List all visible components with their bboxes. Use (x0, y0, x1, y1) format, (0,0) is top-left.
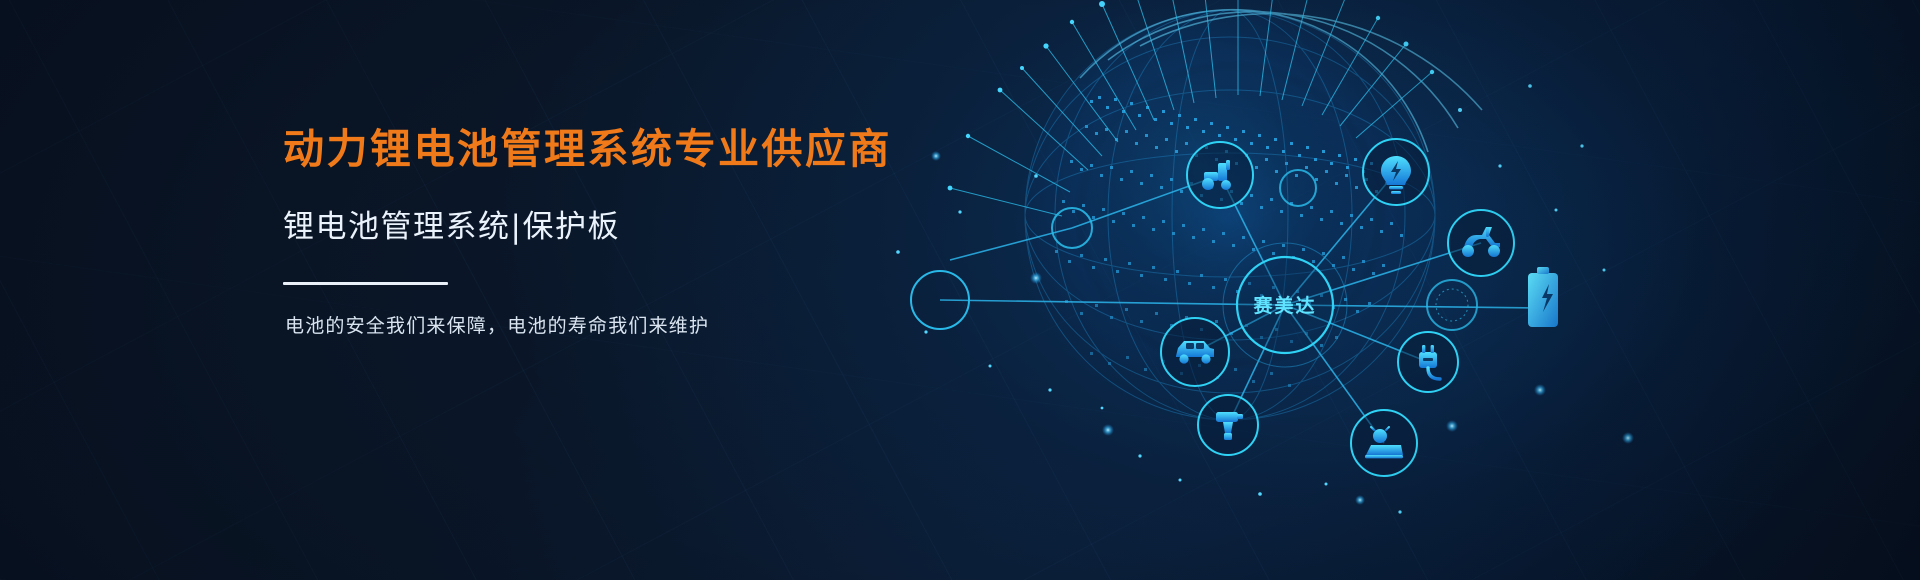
node-tractor (1187, 142, 1253, 208)
node-lightbulb (1363, 139, 1429, 205)
banner-subheadline: 锂电池管理系统|保护板 (283, 209, 1003, 246)
globe-wireframe (1025, 10, 1435, 420)
node-connection-lines (940, 172, 1541, 443)
globe-center-hub: 赛美达 (1223, 243, 1347, 367)
node-battery (1528, 267, 1558, 327)
node-plug (1398, 332, 1458, 392)
continent-dot-matrix (1055, 96, 1403, 387)
node-solar-panel (1351, 410, 1417, 476)
banner-tagline: 电池的安全我们来保障，电池的寿命我们来维护 (285, 311, 1003, 338)
node-power-tool (1198, 395, 1258, 455)
data-spikes (950, 0, 1432, 216)
banner-headline: 动力锂电池管理系统专业供应商 (283, 126, 1003, 173)
globe-center-label: 赛美达 (1252, 294, 1316, 317)
node-empty-right (1427, 280, 1477, 330)
node-empty-mid (1052, 208, 1092, 248)
node-empty-upper (1280, 170, 1316, 206)
banner-copy: 动力锂电池管理系统专业供应商 锂电池管理系统|保护板 电池的安全我们来保障，电池… (283, 126, 1003, 338)
spike-end-dots (948, 0, 1435, 190)
node-scooter (1448, 210, 1514, 276)
ambient-particles (896, 84, 1634, 513)
divider-rule (283, 282, 448, 285)
hero-banner: 赛美达 (0, 0, 1920, 580)
node-car (1161, 318, 1229, 386)
globe-highlight-arcs (1080, 10, 1482, 152)
